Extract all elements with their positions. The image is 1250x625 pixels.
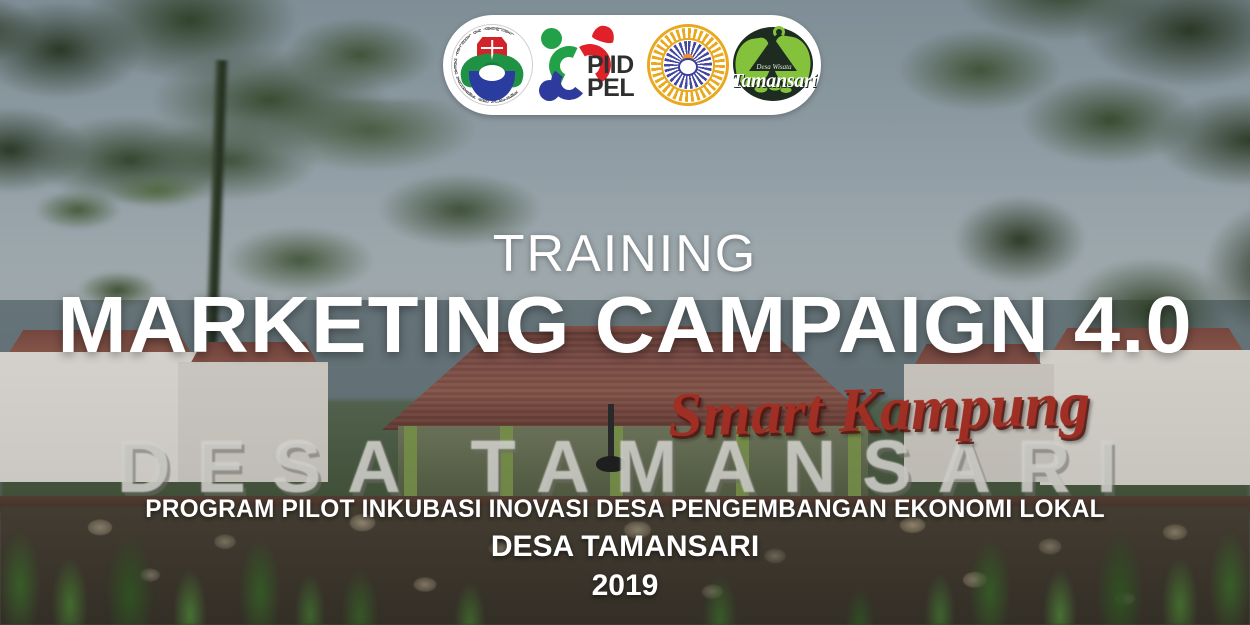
piid-figure-red-head [591, 23, 617, 44]
title-block: TRAINING MARKETING CAMPAIGN 4.0 [0, 228, 1250, 366]
footer-block: PROGRAM PILOT INKUBASI INOVASI DESA PENG… [0, 496, 1250, 605]
title-kicker: TRAINING [0, 228, 1250, 280]
kemendesa-logo: KEMENTERIAN DESA PEMBANGUNAN DAERAH TERT… [449, 22, 535, 108]
piid-pel-logo: PIID PEL [535, 22, 647, 108]
poster-canvas: DESA TAMANSARI Smart Kampung KEMENTERIAN… [0, 0, 1250, 625]
seal-emblem-core [678, 58, 698, 76]
title-headline: MARKETING CAMPAIGN 4.0 [0, 284, 1250, 366]
piid-figure-green-head [541, 28, 562, 49]
footer-village-line: DESA TAMANSARI [0, 528, 1250, 566]
logo-bar: KEMENTERIAN DESA PEMBANGUNAN DAERAH TERT… [443, 15, 821, 115]
tamansari-logo: Desa Wisata Tamansari [729, 23, 819, 107]
kabupaten-seal-logo [647, 24, 729, 106]
tamansari-logo-wordmark: Tamansari [731, 70, 816, 93]
footer-year-line: 2019 [0, 567, 1250, 605]
footer-program-line: PROGRAM PILOT INKUBASI INOVASI DESA PENG… [13, 496, 1238, 524]
piid-pel-line2: PEL [587, 77, 634, 100]
piid-pel-wordmark: PIID PEL [587, 54, 634, 100]
tamansari-logo-curl [773, 26, 785, 38]
